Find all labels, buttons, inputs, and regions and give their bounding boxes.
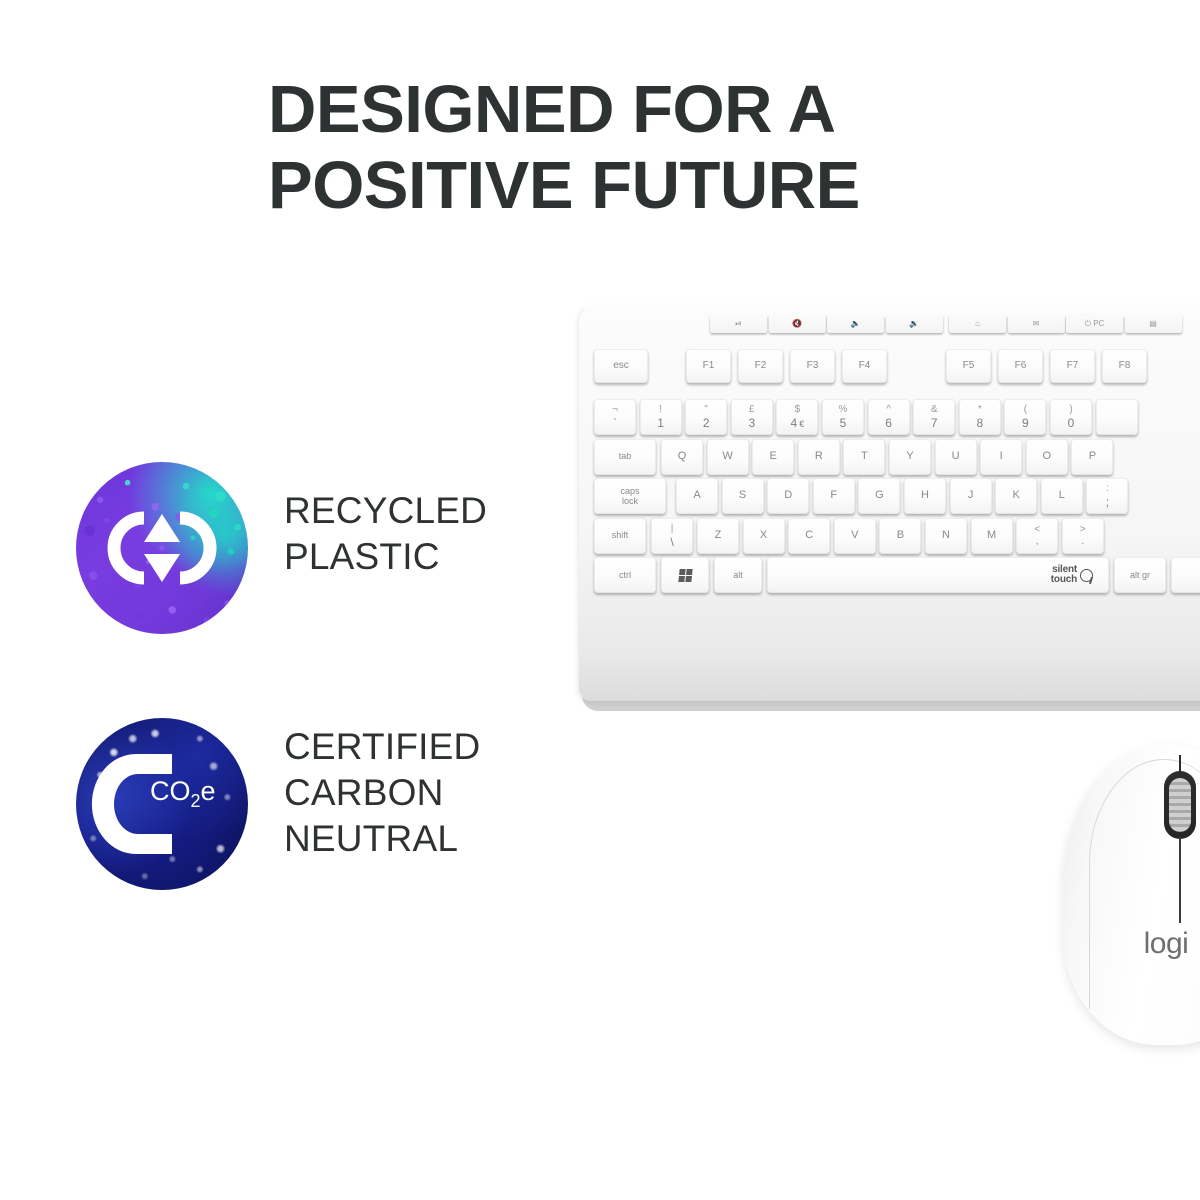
alt-gr-key[interactable]: alt gr bbox=[1114, 557, 1166, 593]
key-s[interactable]: S bbox=[722, 478, 764, 514]
feature-label-line-1: CERTIFIED bbox=[284, 724, 480, 770]
alt-key[interactable]: alt bbox=[714, 557, 762, 593]
volume-down-key[interactable]: 🔈 bbox=[827, 315, 884, 333]
carbon-badge-e: e bbox=[201, 776, 216, 806]
scroll-wheel-grip bbox=[1169, 778, 1191, 832]
feature-label-certified-carbon-neutral: CERTIFIED CARBON NEUTRAL bbox=[284, 724, 480, 862]
key-j[interactable]: J bbox=[950, 478, 992, 514]
certified-carbon-neutral-badge: CO2e bbox=[76, 718, 248, 890]
mouse-button-split-lower bbox=[1179, 837, 1181, 923]
feature-label-line-1: RECYCLED bbox=[284, 488, 487, 534]
key-1[interactable]: !1 bbox=[640, 399, 682, 435]
feature-certified-carbon-neutral: CO2e CERTIFIED CARBON NEUTRAL bbox=[76, 718, 480, 890]
product-marketing-image: DESIGNED FOR A POSITIVE FUTURE RECYCLED … bbox=[0, 0, 1200, 1200]
key-8[interactable]: *8 bbox=[959, 399, 1001, 435]
key-f[interactable]: F bbox=[813, 478, 855, 514]
calculator-key[interactable]: ▤ bbox=[1125, 315, 1182, 333]
carbon-badge-co: CO bbox=[150, 776, 191, 806]
wireless-keyboard: ⏯🔇🔈🔉⌂✉⏻ PC▤escF1F2F3F4F5F6F7F8¬`!1"2£3$4… bbox=[578, 303, 1200, 701]
key-0[interactable]: )0 bbox=[1050, 399, 1092, 435]
power-pc-key[interactable]: ⏻ PC bbox=[1066, 315, 1123, 333]
key-backslash[interactable]: |\ bbox=[651, 518, 693, 554]
volume-up-key[interactable]: 🔉 bbox=[886, 315, 943, 333]
key-r[interactable]: R bbox=[798, 439, 840, 475]
key-a[interactable]: A bbox=[676, 478, 718, 514]
key-d[interactable]: D bbox=[767, 478, 809, 514]
key-n[interactable]: N bbox=[925, 518, 967, 554]
key-v[interactable]: V bbox=[834, 518, 876, 554]
logi-logo: logi bbox=[1063, 927, 1200, 961]
esc-key[interactable]: esc bbox=[594, 349, 648, 383]
key-p[interactable]: P bbox=[1071, 439, 1113, 475]
key-3[interactable]: £3 bbox=[731, 399, 773, 435]
carbon-c-icon: CO2e bbox=[76, 718, 248, 890]
key-z[interactable]: Z bbox=[697, 518, 739, 554]
windows-key[interactable] bbox=[661, 557, 709, 593]
feature-label-line-2: CARBON bbox=[284, 770, 480, 816]
key-semicolon[interactable]: :; bbox=[1086, 478, 1128, 514]
key-9[interactable]: (9 bbox=[1004, 399, 1046, 435]
right-ctrl-key[interactable] bbox=[1171, 557, 1200, 593]
f2-key[interactable]: F2 bbox=[738, 349, 783, 383]
silent-touch-mark-icon bbox=[1080, 569, 1093, 582]
headline-line-2: POSITIVE FUTURE bbox=[268, 148, 1028, 224]
key-g[interactable]: G bbox=[858, 478, 900, 514]
f4-key[interactable]: F4 bbox=[842, 349, 887, 383]
key-6[interactable]: ^6 bbox=[868, 399, 910, 435]
tab-key[interactable]: tab bbox=[594, 439, 656, 475]
key-y[interactable]: Y bbox=[889, 439, 931, 475]
key-o[interactable]: O bbox=[1026, 439, 1068, 475]
f1-key[interactable]: F1 bbox=[686, 349, 731, 383]
key-l[interactable]: L bbox=[1041, 478, 1083, 514]
key-u[interactable]: U bbox=[935, 439, 977, 475]
key-i[interactable]: I bbox=[980, 439, 1022, 475]
headline-line-1: DESIGNED FOR A bbox=[268, 72, 1028, 148]
f6-key[interactable]: F6 bbox=[998, 349, 1043, 383]
key-2[interactable]: "2 bbox=[685, 399, 727, 435]
keyboard-keys: ⏯🔇🔈🔉⌂✉⏻ PC▤escF1F2F3F4F5F6F7F8¬`!1"2£3$4… bbox=[578, 303, 1200, 701]
silent-touch-branding: silenttouch bbox=[1051, 565, 1093, 585]
feature-recycled-plastic: RECYCLED PLASTIC bbox=[76, 462, 487, 634]
key-h[interactable]: H bbox=[904, 478, 946, 514]
key-x[interactable]: X bbox=[743, 518, 785, 554]
page-title: DESIGNED FOR A POSITIVE FUTURE bbox=[268, 72, 1028, 223]
mute-key[interactable]: 🔇 bbox=[769, 315, 826, 333]
key-e[interactable]: E bbox=[752, 439, 794, 475]
key-c[interactable]: C bbox=[788, 518, 830, 554]
f5-key[interactable]: F5 bbox=[946, 349, 991, 383]
key-period[interactable]: >. bbox=[1062, 518, 1104, 554]
svg-text:CO2e: CO2e bbox=[150, 776, 216, 811]
caps-lock-key[interactable]: capslock bbox=[594, 478, 666, 514]
key-comma[interactable]: <, bbox=[1016, 518, 1058, 554]
recycled-plastic-badge bbox=[76, 462, 248, 634]
key-b[interactable]: B bbox=[879, 518, 921, 554]
key-4[interactable]: $4€ bbox=[776, 399, 818, 435]
key-w[interactable]: W bbox=[707, 439, 749, 475]
carbon-badge-sub: 2 bbox=[191, 791, 201, 811]
wireless-mouse: logi bbox=[1063, 745, 1200, 1045]
scroll-wheel bbox=[1164, 771, 1196, 839]
shift-key[interactable]: shift bbox=[594, 518, 646, 554]
feature-label-line-3: NEUTRAL bbox=[284, 816, 480, 862]
key-key[interactable]: ¬` bbox=[594, 399, 636, 435]
key-5[interactable]: %5 bbox=[822, 399, 864, 435]
mail-key[interactable]: ✉ bbox=[1008, 315, 1065, 333]
silent-touch-wordmark: silenttouch bbox=[1051, 565, 1077, 585]
f7-key[interactable]: F7 bbox=[1050, 349, 1095, 383]
ctrl-key[interactable]: ctrl bbox=[594, 557, 656, 593]
play-pause-key[interactable]: ⏯ bbox=[710, 315, 767, 333]
space-bar[interactable]: silenttouch bbox=[767, 557, 1109, 593]
key-q[interactable]: Q bbox=[661, 439, 703, 475]
home-key[interactable]: ⌂ bbox=[949, 315, 1006, 333]
recycle-loop-icon bbox=[76, 462, 248, 634]
key-k[interactable]: K bbox=[995, 478, 1037, 514]
f3-key[interactable]: F3 bbox=[790, 349, 835, 383]
key-minus[interactable] bbox=[1096, 399, 1138, 435]
key-7[interactable]: &7 bbox=[913, 399, 955, 435]
feature-label-recycled-plastic: RECYCLED PLASTIC bbox=[284, 488, 487, 580]
key-t[interactable]: T bbox=[843, 439, 885, 475]
feature-label-line-2: PLASTIC bbox=[284, 534, 487, 580]
f8-key[interactable]: F8 bbox=[1102, 349, 1147, 383]
key-m[interactable]: M bbox=[971, 518, 1013, 554]
